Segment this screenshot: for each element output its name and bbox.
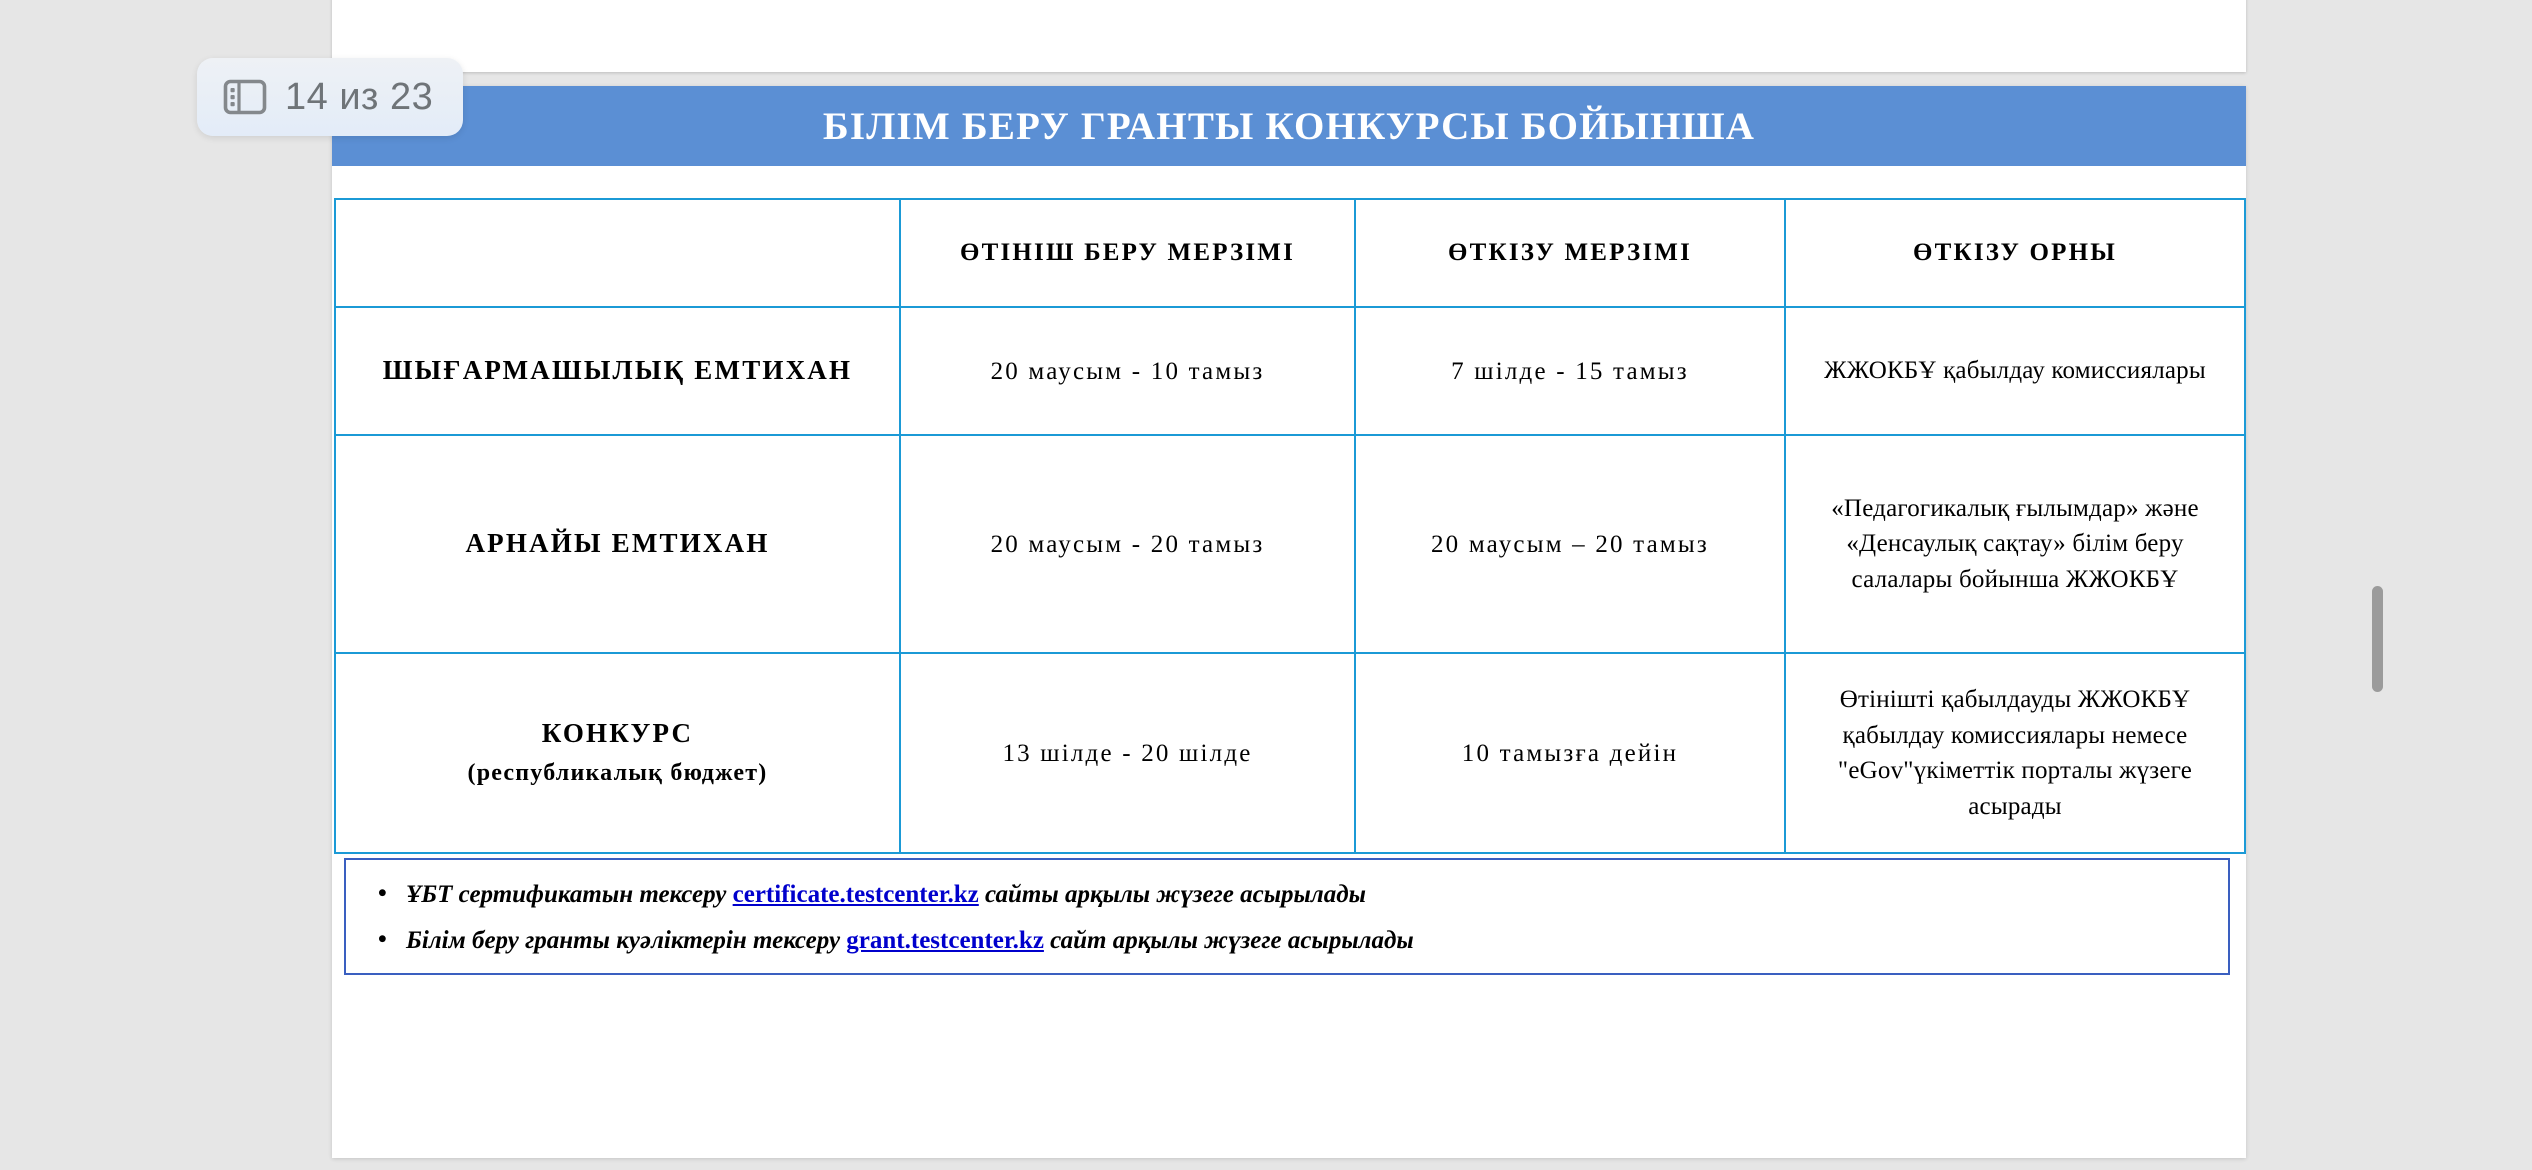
- table-row: АРНАЙЫ ЕМТИХАН 20 маусым - 20 тамыз 20 м…: [335, 435, 2245, 653]
- vertical-scrollbar-thumb[interactable]: [2372, 586, 2383, 692]
- table-row: КОНКУРС (республикалық бюджет) 13 шілде …: [335, 653, 2245, 853]
- table-row: ШЫҒАРМАШЫЛЫҚ ЕМТИХАН 20 маусым - 10 тамы…: [335, 307, 2245, 435]
- slide-title-banner: БІЛІМ БЕРУ ГРАНТЫ КОНКУРСЫ БОЙЫНША: [332, 86, 2246, 166]
- grant-link[interactable]: grant.testcenter.kz: [846, 927, 1044, 954]
- table-header-holding-period: ӨТКІЗУ МЕРЗІМІ: [1355, 199, 1785, 307]
- table-header-place: ӨТКІЗУ ОРНЫ: [1785, 199, 2245, 307]
- row-application-period: 13 шілде - 20 шілде: [900, 653, 1355, 853]
- grant-schedule-table: ӨТІНІШ БЕРУ МЕРЗІМІ ӨТКІЗУ МЕРЗІМІ ӨТКІЗ…: [334, 198, 2246, 854]
- current-slide[interactable]: БІЛІМ БЕРУ ГРАНТЫ КОНКУРСЫ БОЙЫНША ӨТІНІ…: [332, 86, 2246, 1158]
- row-place: Өтінішті қабылдауды ЖЖОКБҰ қабылдау коми…: [1785, 653, 2245, 853]
- slide-title-text: БІЛІМ БЕРУ ГРАНТЫ КОНКУРСЫ БОЙЫНША: [823, 104, 1755, 149]
- previous-slide[interactable]: , , ,: [332, 0, 2246, 72]
- note-text-before: Білім беру гранты куәліктерін тексеру: [406, 927, 846, 954]
- table-header-application-period: ӨТІНІШ БЕРУ МЕРЗІМІ: [900, 199, 1355, 307]
- note-text-after: сайты арқылы жүзеге асырылады: [979, 881, 1366, 908]
- row-label: АРНАЙЫ ЕМТИХАН: [335, 435, 900, 653]
- row-label: ШЫҒАРМАШЫЛЫҚ ЕМТИХАН: [335, 307, 900, 435]
- row-label-sub: (республикалық бюджет): [468, 760, 768, 786]
- table-header-blank: [335, 199, 900, 307]
- note-text-before: ҰБТ сертификатын тексеру: [406, 881, 733, 908]
- notes-box: ҰБТ сертификатын тексеру certificate.tes…: [344, 858, 2230, 975]
- notes-list: ҰБТ сертификатын тексеру certificate.tes…: [372, 876, 2202, 959]
- row-place: ЖЖОКБҰ қабылдау комиссиялары: [1785, 307, 2245, 435]
- page-indicator[interactable]: 14 из 23: [197, 58, 463, 136]
- row-holding-period: 7 шілде - 15 тамыз: [1355, 307, 1785, 435]
- row-holding-period: 10 тамызға дейін: [1355, 653, 1785, 853]
- row-label-main: КОНКУРС: [542, 718, 693, 748]
- note-item: ҰБТ сертификатын тексеру certificate.tes…: [372, 876, 2202, 914]
- row-label: КОНКУРС (республикалық бюджет): [335, 653, 900, 853]
- note-text-after: сайт арқылы жүзеге асырылады: [1044, 927, 1414, 954]
- page-indicator-label: 14 из 23: [285, 76, 433, 119]
- document-viewer[interactable]: , , , БІЛІМ БЕРУ ГРАНТЫ КОНКУРСЫ БОЙЫНША…: [0, 0, 2532, 1170]
- note-item: Білім беру гранты куәліктерін тексеру gr…: [372, 922, 2202, 960]
- certificate-link[interactable]: certificate.testcenter.kz: [733, 881, 979, 908]
- row-place: «Педагогикалық ғылымдар» және «Денсаулық…: [1785, 435, 2245, 653]
- row-application-period: 20 маусым - 10 тамыз: [900, 307, 1355, 435]
- table-header-row: ӨТІНІШ БЕРУ МЕРЗІМІ ӨТКІЗУ МЕРЗІМІ ӨТКІЗ…: [335, 199, 2245, 307]
- panel-layout-icon: [223, 79, 267, 115]
- row-holding-period: 20 маусым – 20 тамыз: [1355, 435, 1785, 653]
- row-application-period: 20 маусым - 20 тамыз: [900, 435, 1355, 653]
